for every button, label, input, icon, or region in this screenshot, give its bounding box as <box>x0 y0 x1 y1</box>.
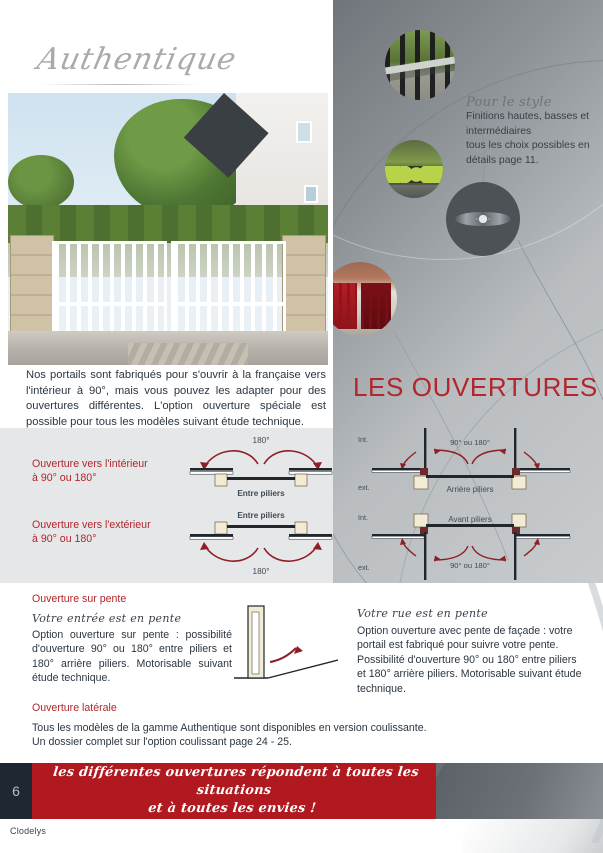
decorative-corner-fade <box>463 819 603 853</box>
title-flourish <box>40 84 200 85</box>
diagram-exterior-between-pillars: Entre piliers 180° <box>188 508 334 580</box>
diagram-outside-label: ext. <box>358 563 370 572</box>
diagram-caption: Entre piliers <box>237 511 285 520</box>
page-number: 6 <box>0 763 32 819</box>
page-title: Authentique <box>30 42 321 94</box>
style-kicker: Pour le style <box>466 95 552 110</box>
style-description: Finitions hautes, basses et intermédiair… <box>466 110 596 168</box>
brochure-page: Pour le style Finitions hautes, basses e… <box>0 0 603 853</box>
slope-figure <box>234 598 338 682</box>
slope-left-text: Option ouverture sur pente : possibilité… <box>32 628 232 686</box>
fence-tops-photo <box>385 30 455 100</box>
diagram-angle-label: 90° ou 180° <box>450 438 490 447</box>
footer-banner-line1: les différentes ouvertures répondent à t… <box>31 764 439 800</box>
diagram-angle-label: 180° <box>253 567 270 576</box>
diagram-caption: Entre piliers <box>237 489 285 498</box>
slope-section-heading: Ouverture sur pente <box>32 593 126 605</box>
intro-paragraph: Nos portails sont fabriqués pour s'ouvri… <box>26 368 326 430</box>
white-gate-photo <box>8 93 328 365</box>
ornament-medallion-photo <box>446 182 520 256</box>
red-gate-photo <box>333 262 397 336</box>
diagram-inside-label: Int. <box>358 435 368 444</box>
opening-label-interior: Ouverture vers l'intérieur à 90° ou 180° <box>32 457 148 485</box>
section-title: LES OUVERTURES <box>353 372 598 403</box>
diagram-caption: Avant piliers <box>448 515 491 524</box>
diagram-interior-behind-pillars: Int. ext. 90° ou 180° Arrière piliers <box>352 428 600 504</box>
diagram-exterior-front-pillars: Int. ext. Avant piliers 90° ou 180° <box>352 506 600 584</box>
diagram-interior-between-pillars: 180° Entre piliers <box>188 430 334 502</box>
page-footer: 6 les différentes ouvertures répondent à… <box>0 763 603 819</box>
brand-logo: Clodelys <box>10 826 46 836</box>
footer-banner-text: les différentes ouvertures répondent à t… <box>29 764 439 818</box>
slope-left-kicker: Votre entrée est en pente <box>32 612 181 625</box>
diagram-angle-label: 90° ou 180° <box>450 561 490 570</box>
lateral-section-heading: Ouverture latérale <box>32 702 117 714</box>
opening-label-exterior: Ouverture vers l'extérieur à 90° ou 180° <box>32 518 151 546</box>
diagram-inside-label: Int. <box>358 513 368 522</box>
diagram-angle-label: 180° <box>253 436 270 445</box>
fence-ovals-photo <box>385 140 443 198</box>
lateral-section-text: Tous les modèles de la gamme Authentique… <box>32 721 502 750</box>
diagram-outside-label: ext. <box>358 483 370 492</box>
slope-right-kicker: Votre rue est en pente <box>357 607 488 620</box>
footer-banner: les différentes ouvertures répondent à t… <box>32 763 436 819</box>
footer-banner-line2: et à toutes les envies ! <box>29 800 435 818</box>
diagram-caption: Arrière piliers <box>446 485 493 494</box>
footer-grey-block <box>436 763 603 819</box>
